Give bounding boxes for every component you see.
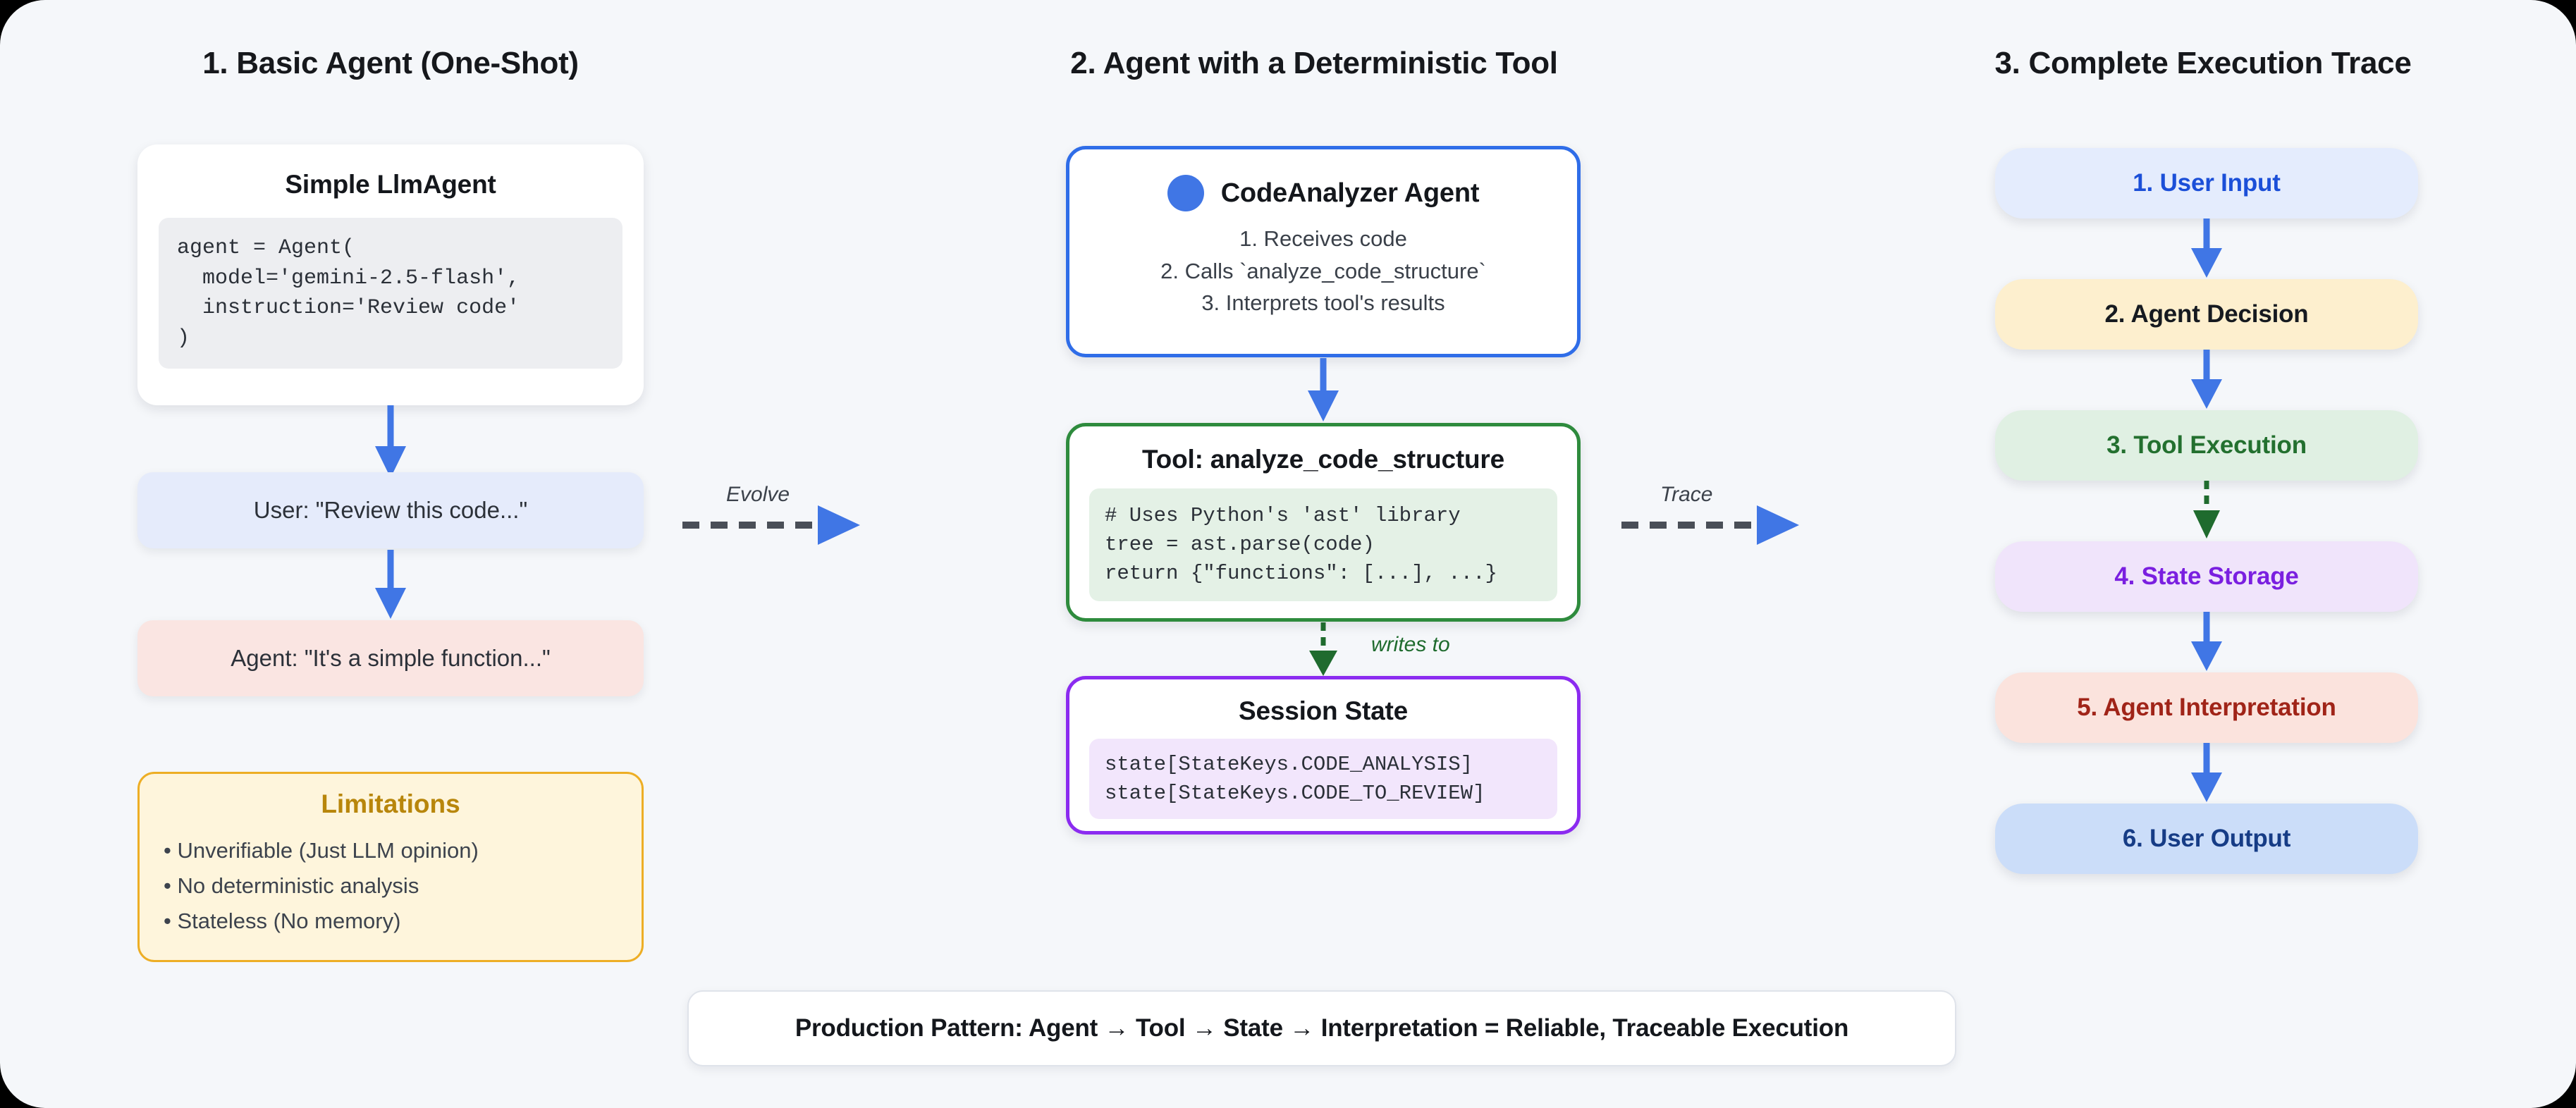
code-analyzer-agent-title: CodeAnalyzer Agent bbox=[1221, 178, 1480, 209]
trace-step-3: 3. Tool Execution bbox=[1995, 410, 2418, 481]
trace-step-label: 4. State Storage bbox=[2114, 562, 2298, 591]
column-2-title: 2. Agent with a Deterministic Tool bbox=[1026, 46, 1602, 81]
arrow-agent-to-user bbox=[369, 405, 412, 479]
production-pattern-box: Production Pattern: Agent → Tool → State… bbox=[687, 990, 1956, 1066]
arrow-tool-to-state bbox=[1301, 622, 1345, 677]
diagram-canvas: 1. Basic Agent (One-Shot) 2. Agent with … bbox=[0, 0, 2576, 1108]
trace-step-5: 5. Agent Interpretation bbox=[1995, 672, 2418, 743]
trace-step-label: 5. Agent Interpretation bbox=[2077, 694, 2336, 722]
tool-card-title: Tool: analyze_code_structure bbox=[1089, 445, 1557, 474]
agent-message-text: Agent: "It's a simple function..." bbox=[231, 645, 550, 672]
tool-card: Tool: analyze_code_structure # Uses Pyth… bbox=[1066, 423, 1581, 622]
trace-step-2: 2. Agent Decision bbox=[1995, 279, 2418, 350]
production-pattern-text: Production Pattern: Agent → Tool → State… bbox=[795, 1014, 1848, 1042]
writes-to-label: writes to bbox=[1371, 633, 1450, 657]
user-message-text: User: "Review this code..." bbox=[254, 497, 527, 524]
trace-step-1: 1. User Input bbox=[1995, 148, 2418, 218]
limitations-title: Limitations bbox=[164, 789, 618, 819]
user-message-box: User: "Review this code..." bbox=[137, 472, 644, 548]
arrow-agent-to-tool bbox=[1301, 358, 1345, 423]
agent-step: 3. Interprets tool's results bbox=[1069, 287, 1577, 319]
arrow-trace-3-4 bbox=[2185, 481, 2228, 541]
simple-llm-agent-code: agent = Agent( model='gemini-2.5-flash',… bbox=[159, 218, 622, 369]
trace-step-6: 6. User Output bbox=[1995, 804, 2418, 874]
trace-arrow bbox=[1621, 504, 1805, 550]
trace-label: Trace bbox=[1660, 483, 1712, 507]
trace-step-label: 3. Tool Execution bbox=[2106, 431, 2307, 460]
trace-step-4: 4. State Storage bbox=[1995, 541, 2418, 612]
arrow-trace-1-2 bbox=[2185, 218, 2228, 279]
trace-step-label: 1. User Input bbox=[2133, 169, 2280, 197]
limitation-item: • Stateless (No memory) bbox=[164, 904, 618, 939]
arrow-user-to-agent bbox=[369, 550, 412, 620]
code-analyzer-agent-card: CodeAnalyzer Agent 1. Receives code 2. C… bbox=[1066, 146, 1581, 357]
agent-step: 1. Receives code bbox=[1069, 223, 1577, 255]
column-1-title: 1. Basic Agent (One-Shot) bbox=[137, 46, 644, 81]
agent-step: 2. Calls `analyze_code_structure` bbox=[1069, 255, 1577, 288]
arrow-trace-5-6 bbox=[2185, 743, 2228, 804]
session-state-card: Session State state[StateKeys.CODE_ANALY… bbox=[1066, 676, 1581, 835]
session-state-title: Session State bbox=[1089, 696, 1557, 726]
column-3-title: 3. Complete Execution Trace bbox=[1953, 46, 2453, 81]
arrow-trace-2-3 bbox=[2185, 350, 2228, 410]
trace-step-label: 6. User Output bbox=[2123, 825, 2290, 853]
blue-circle-icon bbox=[1167, 175, 1204, 211]
limitation-item: • Unverifiable (Just LLM opinion) bbox=[164, 833, 618, 868]
simple-llm-agent-card: Simple LlmAgent agent = Agent( model='ge… bbox=[137, 144, 644, 405]
tool-card-code: # Uses Python's 'ast' library tree = ast… bbox=[1089, 488, 1557, 601]
trace-step-label: 2. Agent Decision bbox=[2105, 300, 2309, 328]
evolve-label: Evolve bbox=[726, 483, 790, 507]
agent-message-box: Agent: "It's a simple function..." bbox=[137, 620, 644, 696]
arrow-trace-4-5 bbox=[2185, 612, 2228, 672]
session-state-code: state[StateKeys.CODE_ANALYSIS] state[Sta… bbox=[1089, 739, 1557, 819]
limitation-item: • No deterministic analysis bbox=[164, 868, 618, 904]
simple-llm-agent-title: Simple LlmAgent bbox=[159, 170, 622, 199]
evolve-arrow bbox=[682, 504, 866, 550]
limitations-box: Limitations • Unverifiable (Just LLM opi… bbox=[137, 772, 644, 962]
